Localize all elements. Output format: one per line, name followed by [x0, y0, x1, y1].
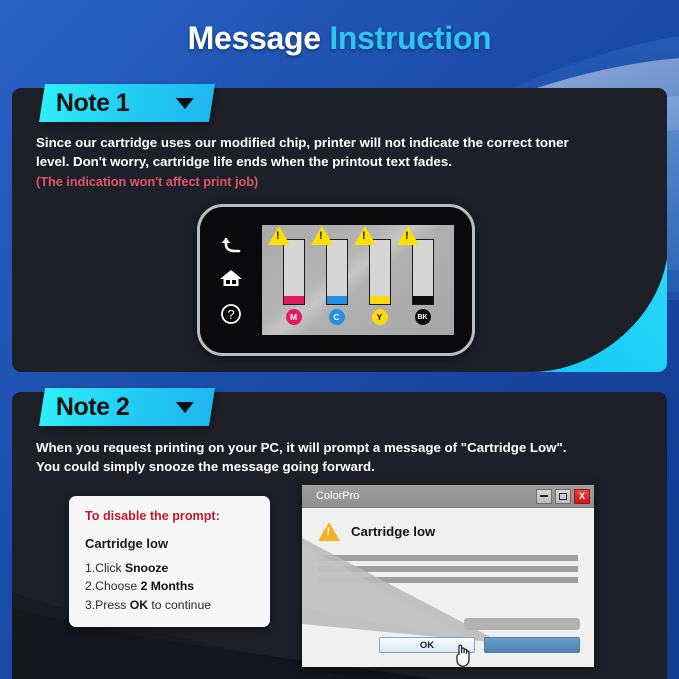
toner-gauge-m: M: [277, 239, 311, 325]
printer-control-panel: ? M C Y: [197, 204, 475, 356]
toner-bar: [283, 239, 305, 305]
placeholder-line: [318, 577, 578, 583]
list-item: 1.Click Snooze: [85, 559, 254, 577]
back-icon[interactable]: [220, 236, 242, 254]
step-pre: Click: [95, 561, 125, 575]
step-post: to continue: [148, 598, 211, 612]
step-strong: 2 Months: [141, 579, 195, 593]
step-strong: Snooze: [125, 561, 168, 575]
toner-gauge-c: C: [320, 239, 354, 325]
cartridge-low-dialog: ColorPro X Cartridge low OK: [302, 485, 594, 667]
chevron-down-icon: [176, 98, 194, 109]
toner-chip-label: M: [286, 309, 302, 325]
warning-triangle-icon: [318, 522, 340, 541]
svg-text:?: ?: [227, 307, 234, 322]
help-icon[interactable]: ?: [220, 303, 242, 325]
dialog-button-row: OK: [318, 637, 580, 653]
list-item: 3.Press OK to continue: [85, 596, 254, 614]
dialog-placeholder-lines: [318, 555, 578, 583]
minimize-icon[interactable]: [536, 489, 552, 504]
page-header: Message Instruction: [0, 20, 679, 68]
note1-body: Since our cartridge uses our modified ch…: [36, 133, 664, 191]
step-pre: Choose: [95, 579, 140, 593]
step-number: 1.: [85, 561, 95, 575]
list-item: 2.Choose 2 Months: [85, 577, 254, 595]
note2-body-line-2: You could simply snooze the message goin…: [36, 457, 664, 476]
note2-body: When you request printing on your PC, it…: [36, 438, 664, 477]
step-number: 3.: [85, 598, 95, 612]
note1-body-line-2: level. Don't worry, cartridge life ends …: [36, 152, 664, 171]
note1-disclaimer: (The indication won't affect print job): [36, 173, 664, 191]
dialog-body: Cartridge low OK: [302, 508, 594, 667]
note2-tab-label: Note 2: [56, 393, 129, 422]
dialog-message: Cartridge low: [351, 524, 435, 539]
step-strong: OK: [130, 598, 148, 612]
toner-bar: [326, 239, 348, 305]
ok-button[interactable]: OK: [379, 637, 475, 653]
printer-hard-keys: ?: [200, 207, 262, 353]
home-icon[interactable]: [219, 268, 243, 288]
toner-gauge-bk: BK: [406, 239, 440, 325]
toner-gauge-y: Y: [363, 239, 397, 325]
note2-body-line-1: When you request printing on your PC, it…: [36, 438, 664, 457]
dialog-actions: OK: [318, 618, 580, 653]
card-steps-list: 1.Click Snooze 2.Choose 2 Months 3.Press…: [85, 559, 254, 614]
warning-triangle-icon: [354, 226, 376, 245]
warning-triangle-icon: [397, 226, 419, 245]
note2-tab[interactable]: Note 2: [39, 388, 215, 426]
card-subtitle: Cartridge low: [85, 536, 254, 551]
toner-chip-label: Y: [372, 309, 388, 325]
snooze-duration-field[interactable]: [464, 618, 580, 630]
dialog-message-row: Cartridge low: [318, 522, 578, 541]
note1-body-line-1: Since our cartridge uses our modified ch…: [36, 133, 664, 152]
toner-fill: [413, 296, 433, 304]
toner-chip-label: C: [329, 309, 345, 325]
hand-pointer-icon: [454, 642, 474, 667]
toner-chip-label: BK: [415, 309, 431, 325]
step-pre: Press: [95, 598, 130, 612]
warning-triangle-icon: [268, 226, 290, 245]
disable-prompt-card: To disable the prompt: Cartridge low 1.C…: [69, 496, 270, 627]
maximize-icon[interactable]: [555, 489, 571, 504]
chevron-down-icon: [176, 402, 194, 413]
placeholder-line: [318, 555, 578, 561]
placeholder-line: [318, 566, 578, 572]
warning-triangle-icon: [311, 226, 333, 245]
dialog-window-title: ColorPro: [316, 490, 533, 502]
toner-fill: [284, 296, 304, 304]
printer-screen: M C Y BK: [262, 225, 454, 335]
toner-fill: [327, 296, 347, 304]
note1-tab[interactable]: Note 1: [39, 84, 215, 122]
ok-button-label: OK: [420, 640, 434, 651]
secondary-button[interactable]: [484, 637, 580, 653]
toner-bar: [412, 239, 434, 305]
toner-bar: [369, 239, 391, 305]
toner-fill: [370, 296, 390, 304]
close-icon[interactable]: X: [574, 489, 590, 504]
step-number: 2.: [85, 579, 95, 593]
card-title: To disable the prompt:: [85, 509, 254, 523]
page-title-part-2: Instruction: [329, 20, 491, 56]
dialog-title-bar[interactable]: ColorPro X: [302, 485, 594, 508]
page-title: Message Instruction: [0, 20, 679, 57]
note1-tab-label: Note 1: [56, 89, 129, 118]
page-title-part-1: Message: [188, 20, 321, 56]
